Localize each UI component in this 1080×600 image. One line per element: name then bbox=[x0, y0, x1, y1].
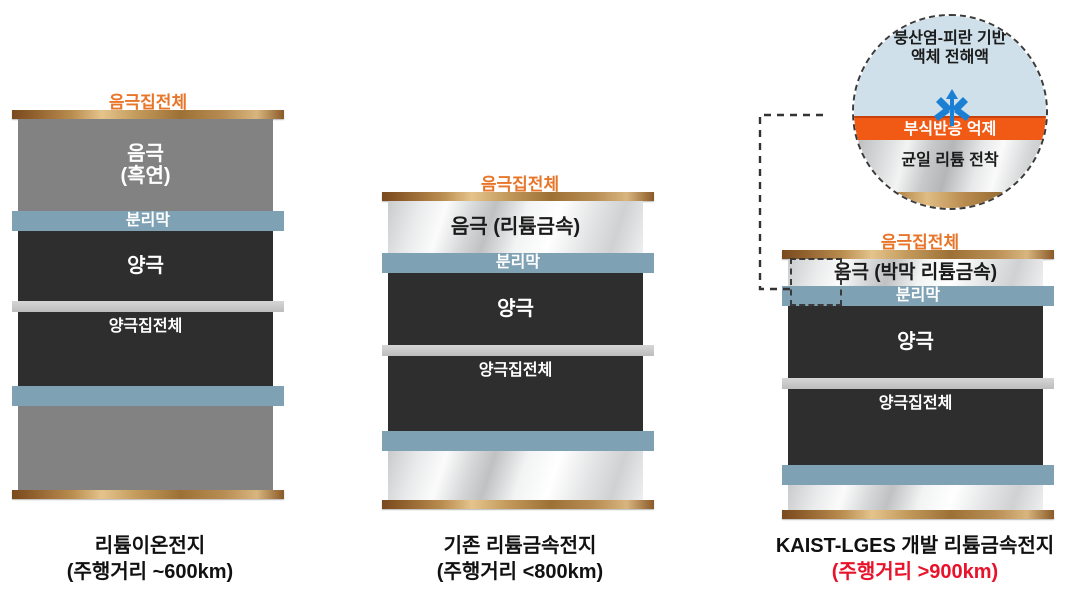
anode-current-collector-top bbox=[382, 192, 654, 201]
cell-conventional-lithium-metal-battery: 음극집전체 음극 (리튬금속) 분리막 양극 양극집전체 bbox=[370, 170, 680, 510]
cathode-current-collector bbox=[382, 345, 654, 356]
separator-upper: 분리막 bbox=[12, 211, 284, 231]
cathode-current-collector bbox=[782, 378, 1054, 389]
separator-lower bbox=[782, 465, 1054, 485]
anode-graphite-layer: 음극(흑연) bbox=[18, 119, 273, 211]
cathode-upper-layer: 양극 bbox=[788, 306, 1043, 378]
corrosion-inhibitor-label: 부식반응 억제 bbox=[904, 121, 997, 140]
cathode-lower-layer: 양극집전체 bbox=[388, 356, 643, 431]
cathode-current-collector-label: 양극집전체 bbox=[879, 395, 953, 413]
cathode-current-collector bbox=[12, 301, 284, 312]
anode-lithium-metal-layer-lower bbox=[388, 451, 643, 500]
caption-line1: KAIST-LGES 개발 리튬금속전지 bbox=[776, 535, 1054, 557]
separator-label: 분리막 bbox=[126, 212, 170, 230]
cell-kaist-lges-lithium-metal-battery: 음극집전체 음극 (박막 리튬금속) 분리막 양극 양극집전체 bbox=[770, 228, 1080, 513]
anode-current-collector-bottom bbox=[12, 490, 284, 499]
separator-upper: 분리막 bbox=[382, 253, 654, 273]
magnified-current-collector bbox=[854, 192, 1046, 210]
separator-lower bbox=[382, 431, 654, 451]
anode-thin-lithium-metal-label: 음극 (박막 리튬금속) bbox=[834, 262, 997, 283]
cathode-upper-layer: 양극 bbox=[18, 231, 273, 301]
cathode-label: 양극 bbox=[497, 298, 534, 320]
magnifier-content: 붕산염-피란 기반 액체 전해액 부식반응 억제 균일 리튬 전착 bbox=[854, 16, 1046, 208]
cathode-current-collector-label: 양극집전체 bbox=[479, 362, 553, 380]
anode-current-collector-bottom bbox=[382, 500, 654, 509]
magnifier-circle: 붕산염-피란 기반 액체 전해액 부식반응 억제 균일 리튬 전착 bbox=[852, 14, 1048, 210]
caption-line1: 리튬이온전지 bbox=[95, 535, 205, 557]
cathode-lower-layer: 양극집전체 bbox=[18, 312, 273, 386]
anode-current-collector-bottom bbox=[782, 510, 1054, 519]
magnifier-focus-box bbox=[790, 258, 842, 306]
cathode-label: 양극 bbox=[897, 331, 934, 353]
cathode-upper-layer: 양극 bbox=[388, 273, 643, 345]
anode-lithium-metal-layer: 음극 (리튬금속) bbox=[388, 201, 643, 253]
lithium-deposit-label: 균일 리튬 전착 bbox=[901, 152, 998, 171]
electrolyte-label: 붕산염-피란 기반 액체 전해액 bbox=[894, 30, 1007, 68]
electrolyte-label-line1: 붕산염-피란 기반 bbox=[894, 30, 1007, 47]
electrolyte-band: 붕산염-피란 기반 액체 전해액 bbox=[854, 16, 1046, 130]
caption-line2: (주행거리 ~600km) bbox=[0, 560, 300, 586]
anode-thin-lithium-metal-layer-lower bbox=[788, 485, 1043, 510]
figure-canvas: 음극집전체 음극(흑연) 분리막 양극 양극집전체 리튬이온전지 (주행거리 ~… bbox=[0, 0, 1080, 600]
caption-line1: 기존 리튬금속전지 bbox=[444, 535, 597, 557]
separator-lower bbox=[12, 386, 284, 406]
caption-line2: (주행거리 <800km) bbox=[370, 560, 670, 586]
anode-graphite-label: 음극(흑연) bbox=[120, 143, 170, 188]
anode-lithium-metal-label: 음극 (리튬금속) bbox=[451, 216, 580, 238]
caption-conventional-lithium-metal-battery: 기존 리튬금속전지 (주행거리 <800km) bbox=[370, 534, 670, 585]
caption-lithium-ion-battery: 리튬이온전지 (주행거리 ~600km) bbox=[0, 534, 300, 585]
caption-line2: (주행거리 >900km) bbox=[755, 560, 1075, 586]
electrolyte-label-line2: 액체 전해액 bbox=[911, 49, 989, 66]
cathode-label: 양극 bbox=[127, 255, 164, 277]
separator-label: 분리막 bbox=[496, 254, 540, 272]
anode-current-collector-top bbox=[12, 110, 284, 119]
separator-label: 분리막 bbox=[896, 287, 940, 305]
cathode-lower-layer: 양극집전체 bbox=[788, 389, 1043, 465]
cathode-current-collector-label: 양극집전체 bbox=[109, 318, 183, 336]
cell-lithium-ion-battery: 음극집전체 음극(흑연) 분리막 양극 양극집전체 bbox=[0, 88, 300, 508]
anode-graphite-layer-lower bbox=[18, 406, 273, 490]
caption-kaist-lges-lithium-metal-battery: KAIST-LGES 개발 리튬금속전지 (주행거리 >900km) bbox=[755, 534, 1075, 585]
